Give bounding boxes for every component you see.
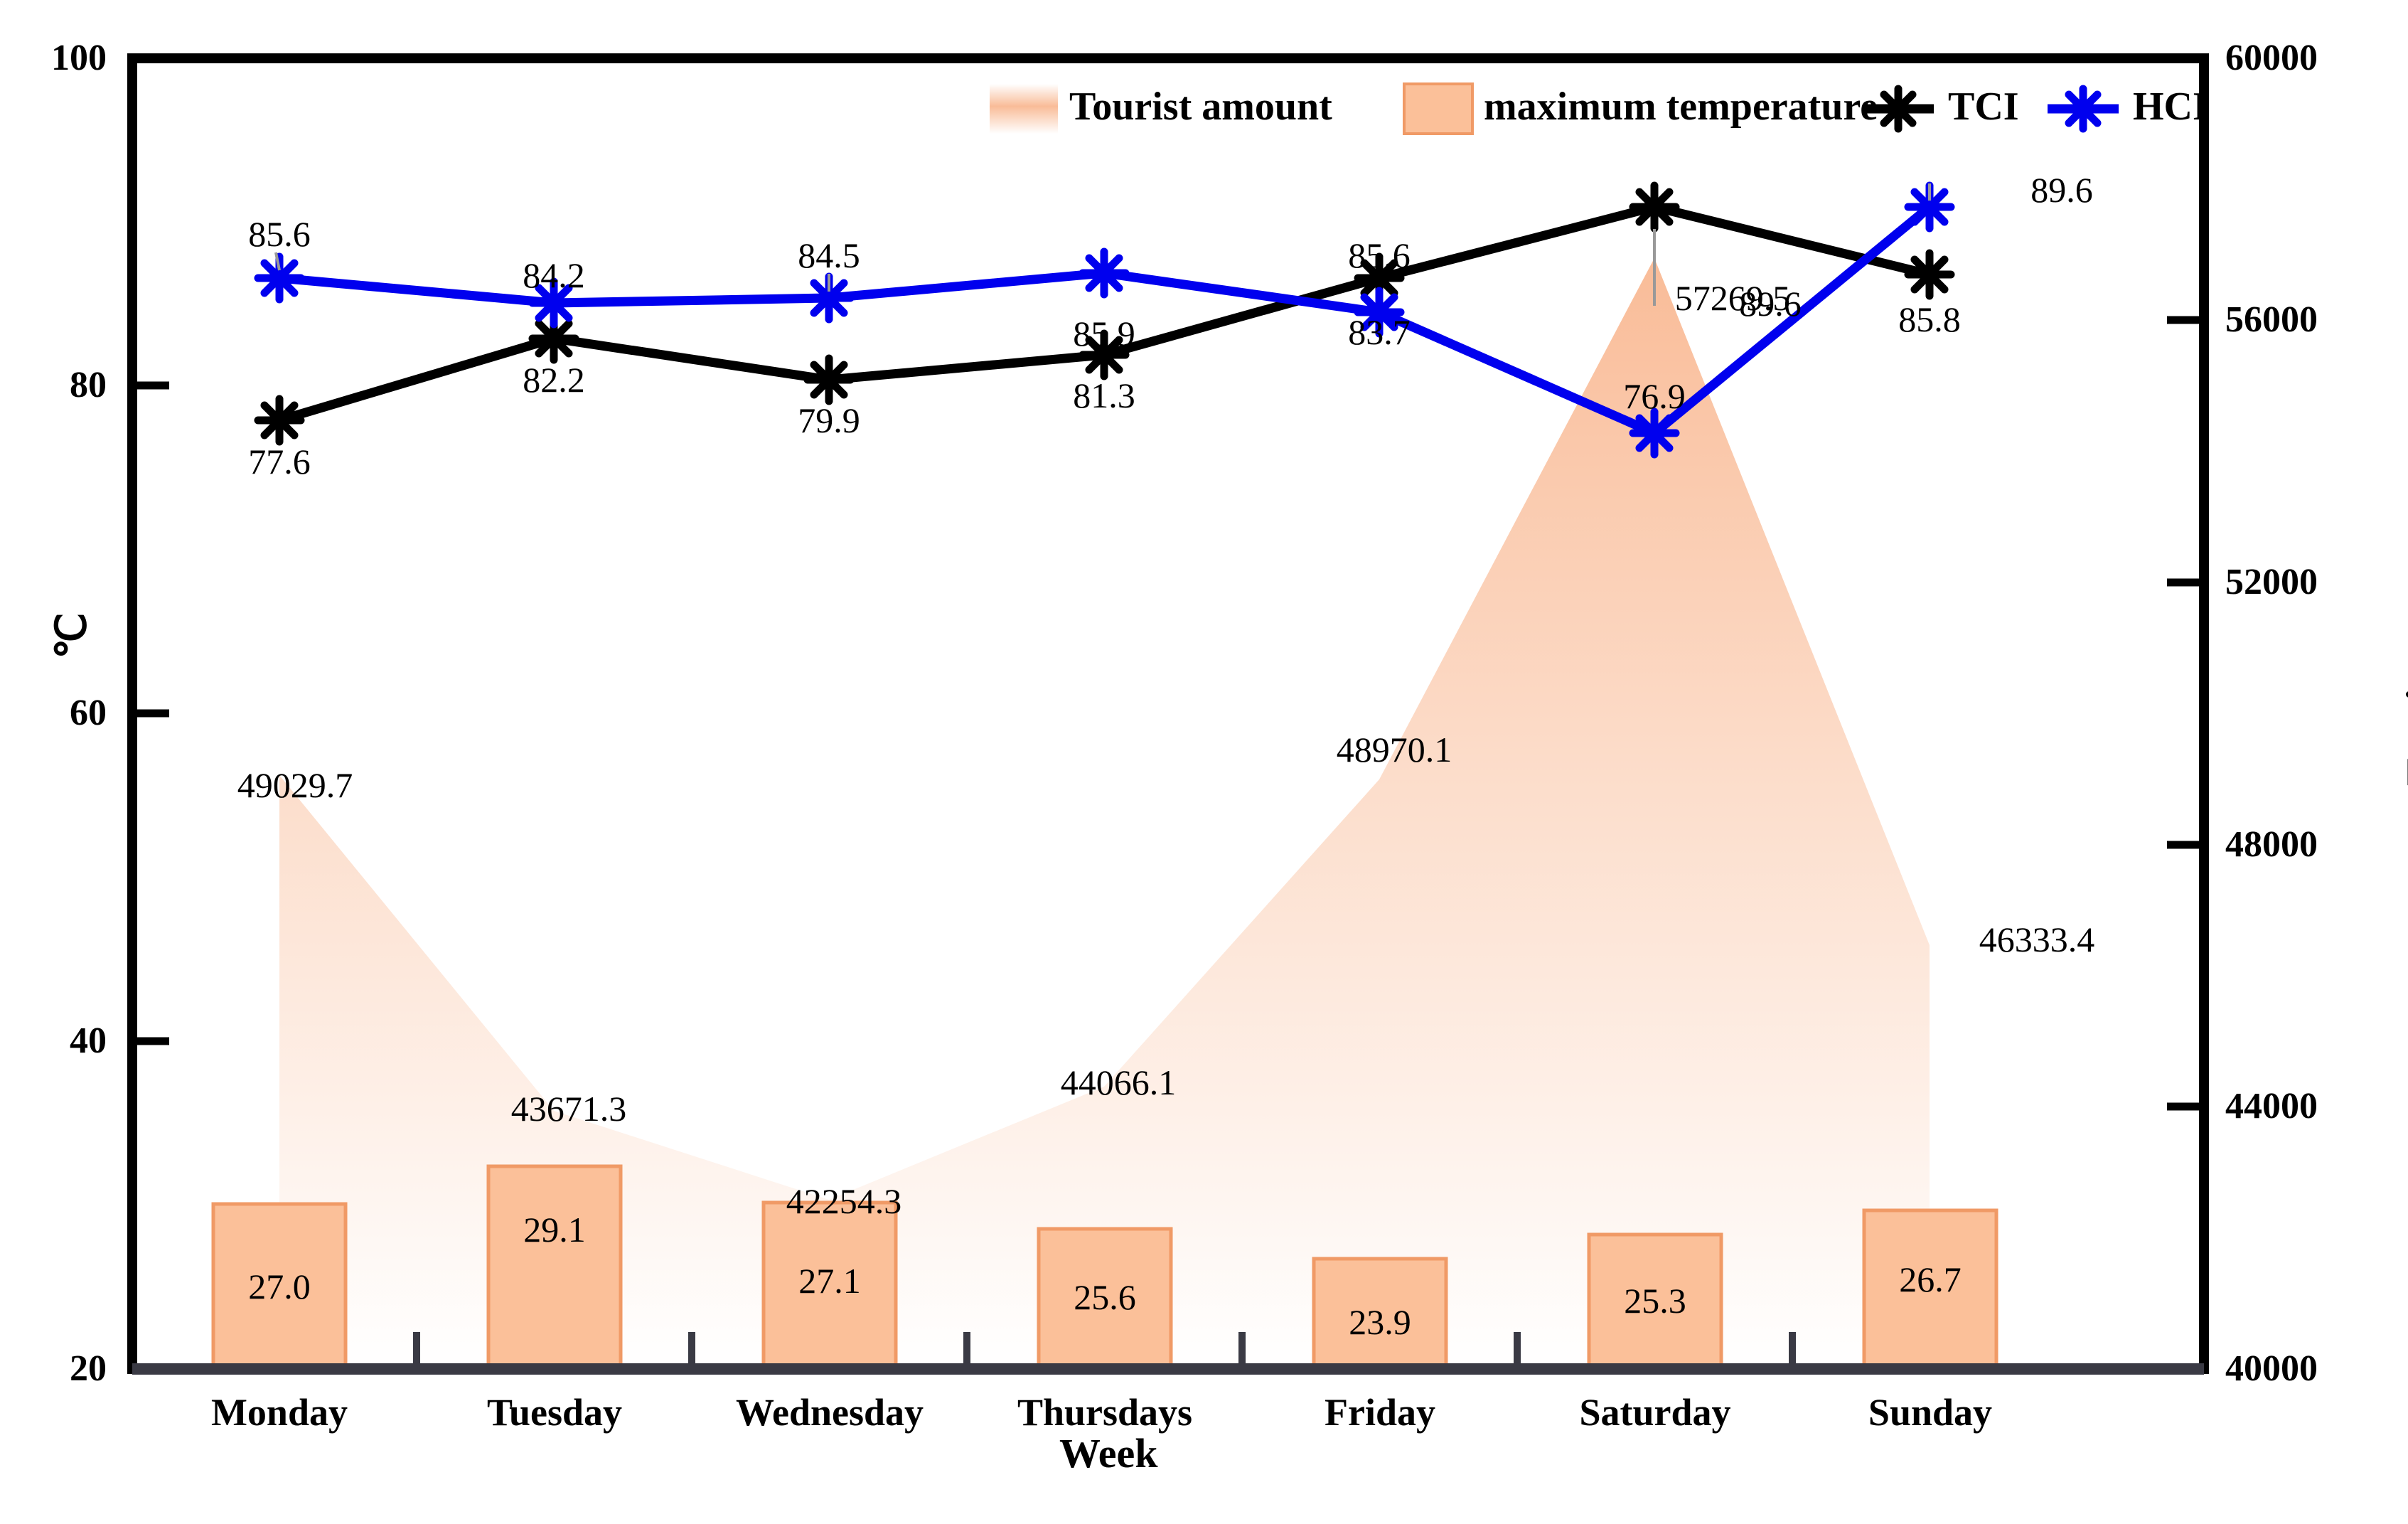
- x-category-saturday: Saturday: [1548, 1390, 1762, 1434]
- y-right-tick-52000: 52000: [2225, 561, 2318, 603]
- tci-label-thursdays: 81.3: [1026, 375, 1182, 416]
- tourist-label-tuesday: 43671.3: [444, 1088, 693, 1129]
- hci-label-wednesday: 84.5: [751, 235, 907, 276]
- legend-label-maximum-temperature[interactable]: maximum temperature: [1484, 84, 1878, 129]
- tourist-label-wednesday: 42254.3: [719, 1181, 968, 1222]
- tci-label-tuesday: 82.2: [476, 359, 632, 400]
- hci-label-tuesday: 84.2: [476, 255, 632, 296]
- tci-label-sunday: 85.8: [1851, 299, 2008, 340]
- y-right-tick-44000: 44000: [2225, 1085, 2318, 1127]
- y-right-tick-60000: 60000: [2225, 37, 2318, 79]
- bar-label-sunday: 26.7: [1859, 1259, 2001, 1300]
- x-category-friday: Friday: [1273, 1390, 1487, 1434]
- bar-label-saturday: 25.3: [1584, 1280, 1726, 1321]
- chart-figure: Tourist amount maximum temperature TCI H…: [0, 0, 2408, 1524]
- tourist-label-sunday: 46333.4: [1912, 919, 2161, 960]
- hci-label-saturday: 76.9: [1576, 375, 1733, 417]
- y-left-tick-20: 20: [0, 1348, 107, 1390]
- y-right-ticks: [2167, 320, 2204, 1107]
- y-right-axis-title: Tourist amount: [2397, 486, 2408, 814]
- x-category-thursdays: Thursdays: [998, 1390, 1211, 1434]
- tci-label-friday: 85.6: [1301, 235, 1457, 276]
- y-right-tick-40000: 40000: [2225, 1348, 2318, 1390]
- tci-label-monday: 77.6: [201, 441, 358, 482]
- tourist-label-saturday: 57269.5: [1608, 277, 1857, 319]
- legend-label-hci[interactable]: HCI: [2133, 84, 2208, 129]
- hci-label-sunday: 89.6: [1984, 169, 2140, 211]
- x-category-tuesday: Tuesday: [448, 1390, 661, 1434]
- x-category-monday: Monday: [173, 1390, 386, 1434]
- hci-label-monday: 85.6: [201, 213, 358, 255]
- tourist-label-thursdays: 44066.1: [994, 1062, 1243, 1103]
- y-left-axis-title: ℃: [47, 593, 95, 678]
- bar-label-friday: 23.9: [1309, 1301, 1451, 1343]
- bar-label-wednesday: 27.1: [759, 1260, 901, 1301]
- tci-label-wednesday: 79.9: [751, 400, 907, 441]
- legend-swatch-hci: [2048, 89, 2119, 129]
- y-left-tick-40: 40: [0, 1020, 107, 1062]
- hci-label-thursdays: 85.9: [1026, 313, 1182, 354]
- legend-swatch-maximum-temperature: [1404, 84, 1472, 134]
- x-category-sunday: Sunday: [1824, 1390, 2037, 1434]
- bar-label-thursdays: 25.6: [1034, 1277, 1176, 1318]
- y-right-tick-48000: 48000: [2225, 824, 2318, 865]
- tourist-label-monday: 49029.7: [171, 764, 419, 806]
- x-axis-title: Week: [1059, 1429, 1158, 1477]
- x-category-wednesday: Wednesday: [723, 1390, 936, 1434]
- y-right-tick-56000: 56000: [2225, 299, 2318, 341]
- y-left-tick-60: 60: [0, 692, 107, 734]
- y-left-tick-80: 80: [0, 364, 107, 406]
- tourist-label-friday: 48970.1: [1270, 729, 1519, 770]
- chart-canvas: [0, 0, 2408, 1524]
- bar-label-monday: 27.0: [208, 1266, 351, 1307]
- y-left-ticks: [132, 385, 169, 1041]
- legend-label-tourist-amount[interactable]: Tourist amount: [1069, 84, 1332, 129]
- bar-label-tuesday: 29.1: [483, 1209, 626, 1250]
- legend-label-tci[interactable]: TCI: [1948, 84, 2019, 129]
- legend-swatch-tourist-amount: [990, 84, 1058, 134]
- hci-label-friday: 83.7: [1301, 311, 1457, 353]
- y-left-tick-100: 100: [0, 37, 107, 79]
